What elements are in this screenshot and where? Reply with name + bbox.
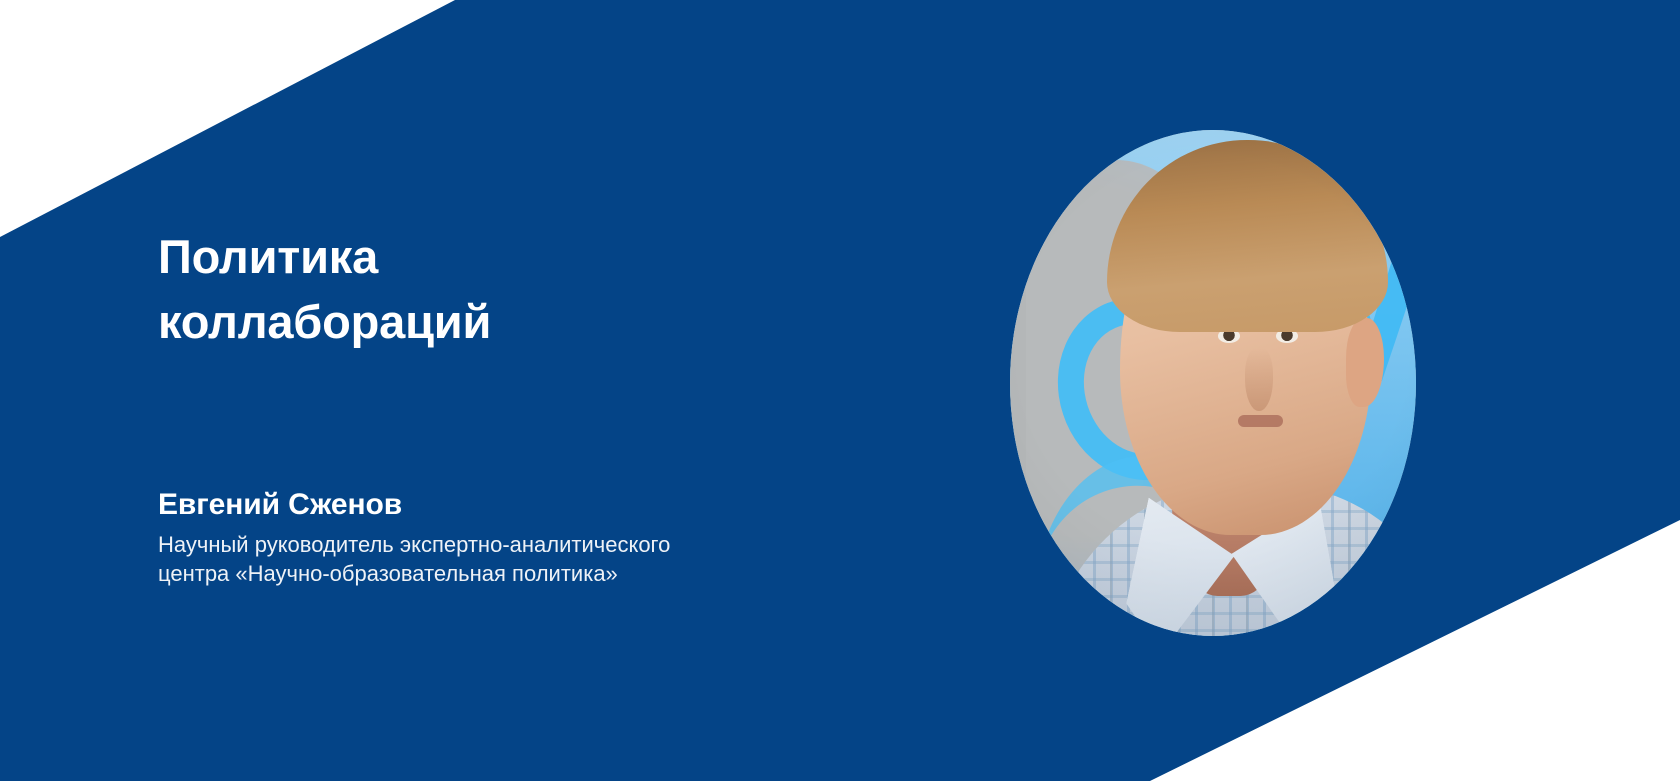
slide-title: Политика коллабораций xyxy=(158,225,858,355)
slide-title-line-2: коллабораций xyxy=(158,290,858,355)
portrait-person xyxy=(1010,130,1416,636)
slide-content: Политика коллабораций Евгений Сженов Нау… xyxy=(158,0,918,781)
presentation-slide: Политика коллабораций Евгений Сженов Нау… xyxy=(0,0,1680,781)
speaker-role-line-2: центра «Научно-образовательная политика» xyxy=(158,559,918,588)
speaker-role-line-1: Научный руководитель экспертно-аналитиче… xyxy=(158,530,918,559)
portrait-mouth xyxy=(1238,415,1283,427)
speaker-name: Евгений Сженов xyxy=(158,487,918,524)
portrait-circle-mask xyxy=(1010,130,1416,636)
speaker-portrait xyxy=(1010,130,1416,636)
portrait-ear-right xyxy=(1346,318,1384,408)
speaker-role: Научный руководитель экспертно-аналитиче… xyxy=(158,530,918,588)
portrait-hair xyxy=(1107,140,1387,332)
speaker-block: Евгений Сженов Научный руководитель эксп… xyxy=(158,487,918,588)
slide-title-line-1: Политика xyxy=(158,225,858,290)
portrait-nose xyxy=(1245,348,1273,412)
